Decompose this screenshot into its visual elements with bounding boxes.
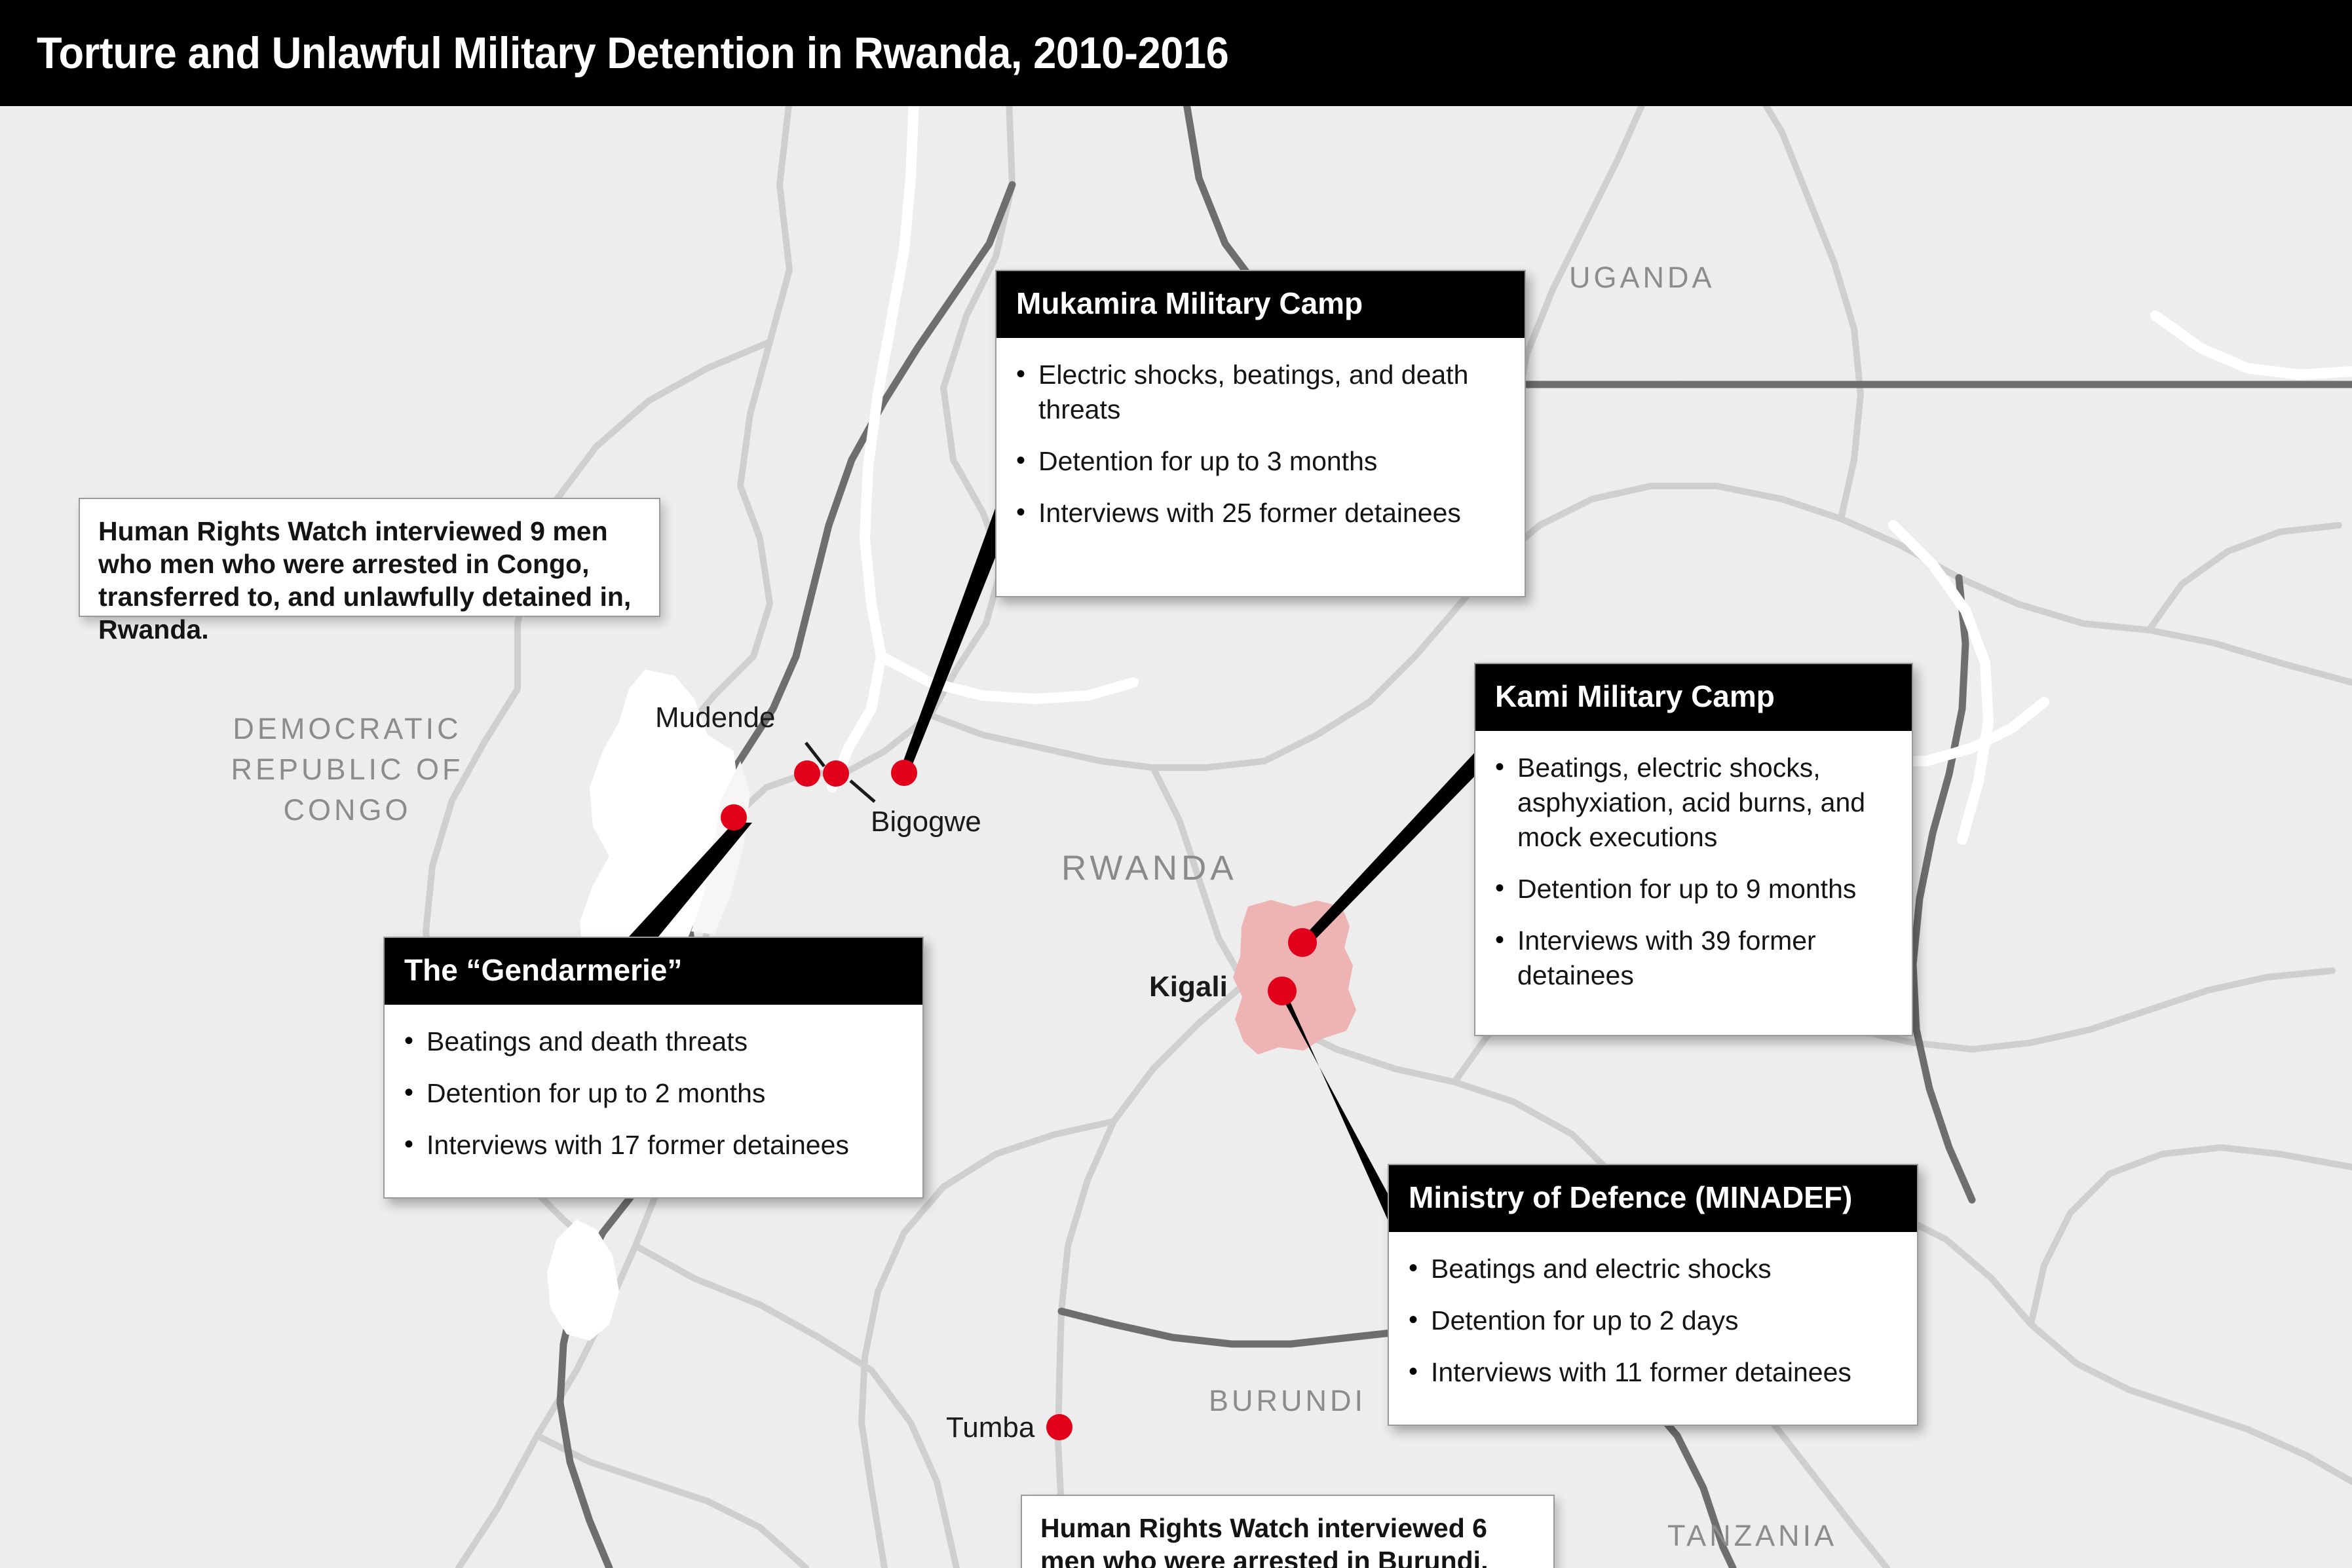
callout-minadef-title: Ministry of Defence (MINADEF) <box>1389 1165 1917 1232</box>
callout-gendarmerie-bullet-2: Detention for up to 2 months <box>404 1076 903 1111</box>
callout-kami-title: Kami Military Camp <box>1475 664 1912 731</box>
callout-kami-bullet-1: Beatings, electric shocks, asphyxiation,… <box>1495 751 1892 855</box>
city-label-kigali: Kigali <box>1149 971 1228 1003</box>
country-label-drc: DEMOCRATIC REPUBLIC OF CONGO <box>216 709 478 831</box>
callout-gendarmerie-bullet-3: Interviews with 17 former detainees <box>404 1128 903 1163</box>
callout-mukamira-title: Mukamira Military Camp <box>996 271 1525 338</box>
callout-minadef[interactable]: Ministry of Defence (MINADEF) Beatings a… <box>1388 1164 1918 1426</box>
callout-kami-bullet-2: Detention for up to 9 months <box>1495 872 1892 906</box>
country-label-uganda: UGANDA <box>1569 261 1715 295</box>
note-burundi: Human Rights Watch interviewed 6 men who… <box>1021 1495 1555 1568</box>
callout-gendarmerie[interactable]: The “Gendarmerie” Beatings and death thr… <box>383 937 924 1199</box>
note-burundi-text: Human Rights Watch interviewed 6 men who… <box>1040 1512 1535 1568</box>
map-marker-minadef[interactable] <box>1268 977 1297 1005</box>
city-label-tumba: Tumba <box>946 1411 1034 1444</box>
callout-kami-bullet-3: Interviews with 39 former detainees <box>1495 924 1892 993</box>
callout-minadef-body: Beatings and electric shocks Detention f… <box>1389 1232 1917 1412</box>
page-title: Torture and Unlawful Military Detention … <box>37 28 1228 79</box>
callout-mukamira[interactable]: Mukamira Military Camp Electric shocks, … <box>995 270 1526 597</box>
country-label-burundi: BURUNDI <box>1209 1384 1366 1418</box>
map-marker-bigogwe[interactable] <box>891 760 917 786</box>
kigali-city-area <box>1233 900 1356 1055</box>
map-canvas[interactable]: UGANDA DEMOCRATIC REPUBLIC OF CONGO RWAN… <box>0 106 2352 1568</box>
callout-minadef-bullet-1: Beatings and electric shocks <box>1409 1252 1897 1286</box>
note-congo: Human Rights Watch interviewed 9 men who… <box>79 498 660 617</box>
map-marker-gendarmerie[interactable] <box>721 804 747 831</box>
country-label-tanzania: TANZANIA <box>1667 1519 1837 1553</box>
country-label-drc-line2: REPUBLIC OF <box>216 749 478 790</box>
map-marker-mudende-2[interactable] <box>823 760 849 787</box>
city-label-bigogwe: Bigogwe <box>871 806 981 838</box>
city-label-mudende: Mudende <box>655 701 775 734</box>
country-label-drc-line1: DEMOCRATIC <box>216 709 478 749</box>
callout-mukamira-bullet-1: Electric shocks, beatings, and death thr… <box>1016 358 1505 427</box>
callout-mukamira-body: Electric shocks, beatings, and death thr… <box>996 338 1525 553</box>
map-marker-tumba[interactable] <box>1046 1414 1072 1440</box>
callout-gendarmerie-title: The “Gendarmerie” <box>385 938 922 1005</box>
country-label-rwanda: RWANDA <box>1061 848 1238 888</box>
map-marker-mudende[interactable] <box>794 760 820 787</box>
callout-minadef-bullet-2: Detention for up to 2 days <box>1409 1303 1897 1338</box>
callout-gendarmerie-body: Beatings and death threats Detention for… <box>385 1005 922 1185</box>
country-label-drc-line3: CONGO <box>216 790 478 831</box>
header-bar: Torture and Unlawful Military Detention … <box>0 0 2352 106</box>
callout-mukamira-bullet-2: Detention for up to 3 months <box>1016 444 1505 479</box>
callout-kami[interactable]: Kami Military Camp Beatings, electric sh… <box>1474 663 1913 1036</box>
map-marker-kami[interactable] <box>1288 928 1317 957</box>
callout-mukamira-bullet-3: Interviews with 25 former detainees <box>1016 496 1505 531</box>
callout-minadef-bullet-3: Interviews with 11 former detainees <box>1409 1355 1897 1390</box>
note-congo-text: Human Rights Watch interviewed 9 men who… <box>98 515 641 646</box>
callout-kami-body: Beatings, electric shocks, asphyxiation,… <box>1475 731 1912 1015</box>
callout-gendarmerie-bullet-1: Beatings and death threats <box>404 1024 903 1059</box>
